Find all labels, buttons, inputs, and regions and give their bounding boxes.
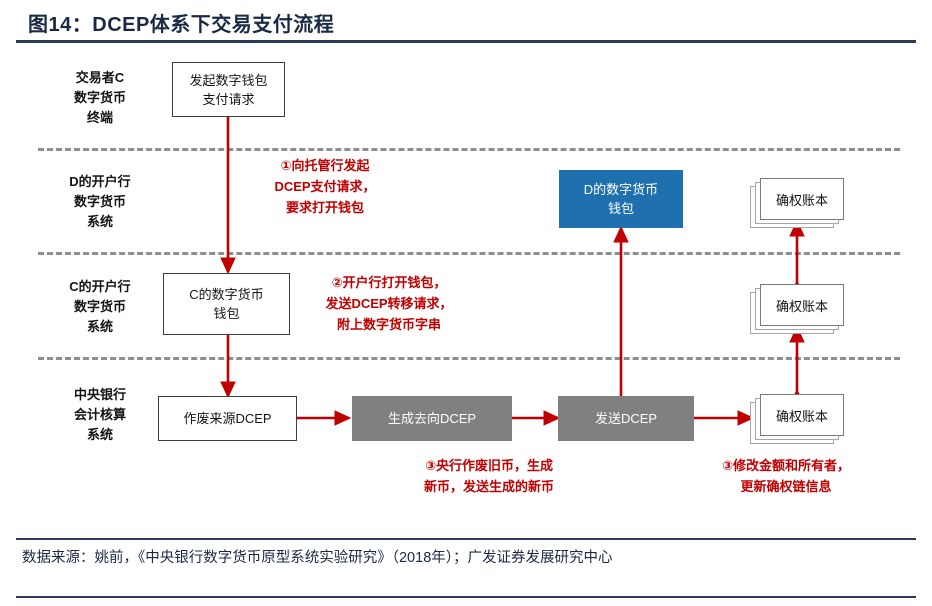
lane-label-bank-c: C的开户行 数字货币 系统: [35, 277, 165, 337]
node-wallet-c[interactable]: C的数字货币 钱包: [163, 273, 290, 335]
lane-label-trader-c: 交易者C 数字货币 终端: [35, 68, 165, 128]
node-generate-target-dcep[interactable]: 生成去向DCEP: [352, 396, 512, 441]
source-note: 数据来源：姚前，《中央银行数字货币原型系统实验研究》（2018年）；广发证券发展…: [22, 546, 918, 570]
footer-divider-bottom: [16, 596, 916, 598]
node-void-source-dcep[interactable]: 作废来源DCEP: [158, 396, 297, 441]
lane-label-central-bank: 中央银行 会计核算 系统: [35, 385, 165, 445]
node-payment-request[interactable]: 发起数字钱包 支付请求: [172, 62, 285, 117]
page-title: 图14：DCEP体系下交易支付流程: [28, 8, 334, 37]
lane-label-bank-d: D的开户行 数字货币 系统: [35, 172, 165, 232]
lane-divider-1: [38, 148, 900, 151]
annotation-step-2: ②开户行打开钱包， 发送DCEP转移请求， 附上数字货币字串: [296, 272, 482, 335]
lane-divider-3: [38, 357, 900, 360]
annotation-step-3-right: ③修改金额和所有者， 更新确权链信息: [683, 455, 889, 497]
ledger-middle-label: 确权账本: [760, 284, 844, 326]
figure-container: 图14：DCEP体系下交易支付流程 交易者C 数字货币 终端 D的开户行 数字货…: [0, 0, 932, 606]
node-wallet-d[interactable]: D的数字货币 钱包: [559, 170, 683, 228]
annotation-step-1: ①向托管行发起 DCEP支付请求， 要求打开钱包: [240, 155, 410, 218]
ledger-top-label: 确权账本: [760, 178, 844, 220]
annotation-step-3-left: ③央行作废旧币，生成 新币，发送生成的新币: [383, 455, 595, 497]
ledger-bottom-label: 确权账本: [760, 394, 844, 436]
title-divider: [16, 40, 916, 43]
node-send-dcep[interactable]: 发送DCEP: [558, 396, 694, 441]
footer-divider-top: [16, 538, 916, 540]
lane-divider-2: [38, 252, 900, 255]
